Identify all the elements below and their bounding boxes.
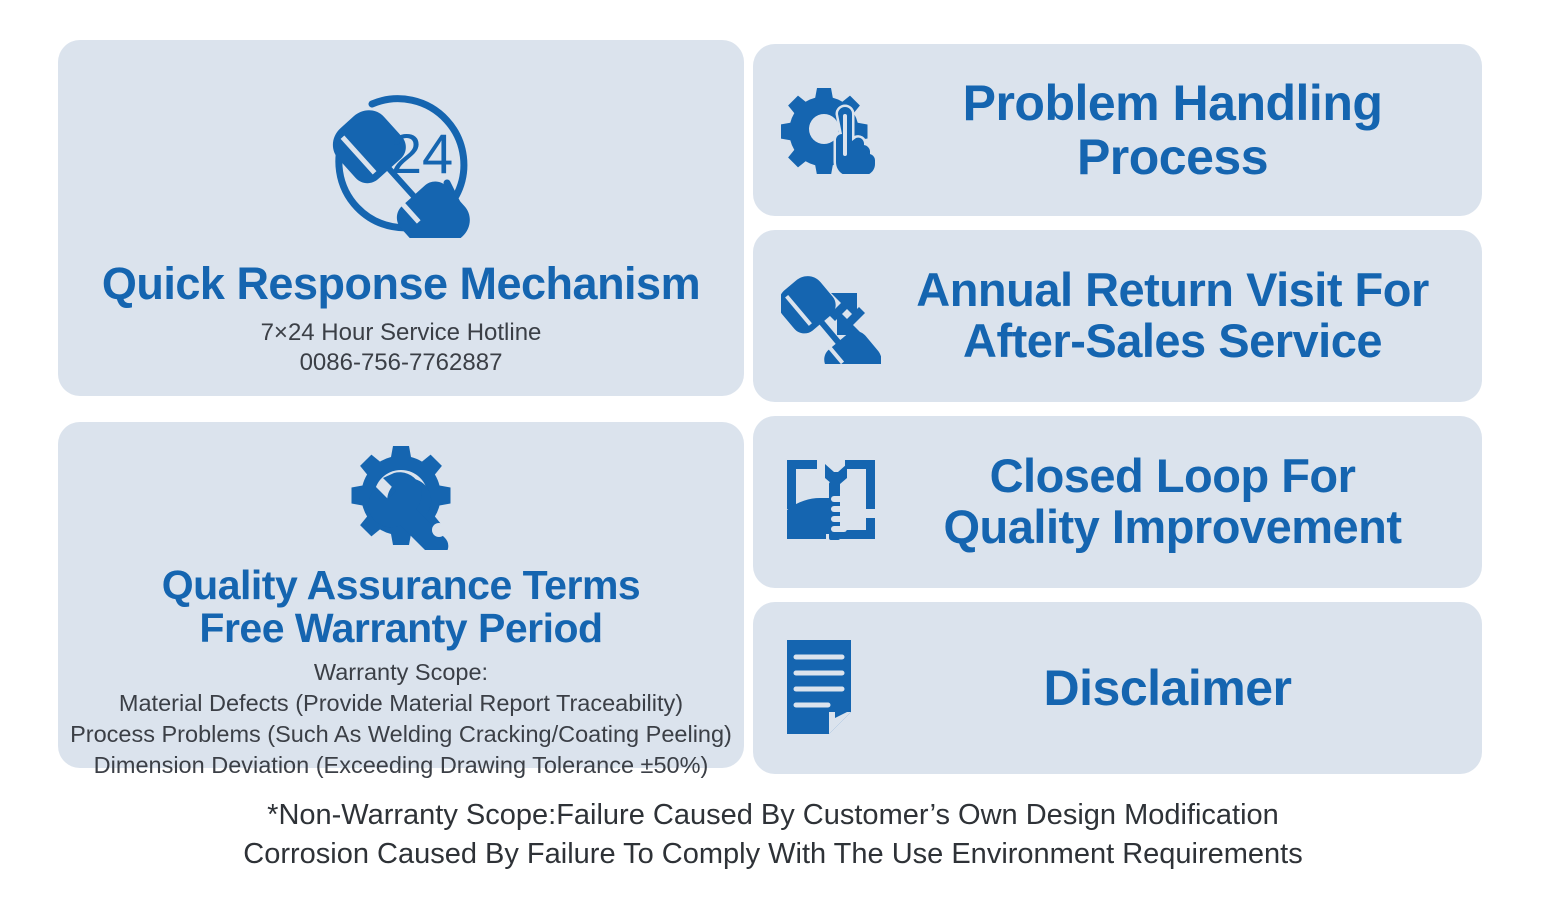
card-title-quick-response: Quick Response Mechanism <box>102 260 700 308</box>
infographic-page: 24 Quick Response Mechanism 7×24 Hour Se… <box>0 0 1546 924</box>
warranty-scope-block: Warranty Scope: Material Defects (Provid… <box>70 657 732 781</box>
closed-loop-title-line1: Closed Loop For <box>881 451 1464 502</box>
gear-hand-click-icon <box>781 86 881 174</box>
svg-text:24: 24 <box>391 122 453 185</box>
footer-line-2: Corrosion Caused By Failure To Comply Wi… <box>0 835 1546 874</box>
document-lines-icon <box>781 636 871 740</box>
non-warranty-footer-note: *Non-Warranty Scope:Failure Caused By Cu… <box>0 796 1546 875</box>
card-quick-response-mechanism: 24 Quick Response Mechanism 7×24 Hour Se… <box>58 40 744 396</box>
service-hotline-label: 7×24 Hour Service Hotline <box>261 318 542 348</box>
warranty-scope-item: Dimension Deviation (Exceeding Drawing T… <box>70 750 732 781</box>
footer-line-1: *Non-Warranty Scope:Failure Caused By Cu… <box>0 796 1546 835</box>
quick-response-subtext: 7×24 Hour Service Hotline 0086-756-77628… <box>261 318 542 378</box>
card-problem-handling-process: Problem Handling Process <box>753 44 1482 216</box>
warranty-scope-label: Warranty Scope: <box>70 657 732 688</box>
warranty-scope-item: Material Defects (Provide Material Repor… <box>70 688 732 719</box>
card-title-annual-return: Annual Return Visit For After-Sales Serv… <box>881 265 1482 367</box>
quality-assurance-title-line1: Quality Assurance Terms <box>162 564 640 607</box>
service-hotline-number: 0086-756-7762887 <box>261 348 542 378</box>
gear-wrench-icon <box>338 444 464 550</box>
phone-24-support-icon: 24 <box>316 88 486 238</box>
quality-assurance-title-line2: Free Warranty Period <box>162 607 640 650</box>
annual-return-title-line1: Annual Return Visit For <box>881 265 1464 316</box>
annual-return-title-line2: After-Sales Service <box>881 316 1464 367</box>
closed-loop-title-line2: Quality Improvement <box>881 502 1464 553</box>
phone-exchange-arrows-icon <box>781 269 881 364</box>
card-quality-assurance-terms: Quality Assurance Terms Free Warranty Pe… <box>58 422 744 768</box>
card-title-quality-assurance: Quality Assurance Terms Free Warranty Pe… <box>162 564 640 651</box>
card-disclaimer: Disclaimer <box>753 602 1482 774</box>
card-title-disclaimer: Disclaimer <box>871 661 1482 715</box>
card-closed-loop-quality-improvement: Closed Loop For Quality Improvement <box>753 416 1482 588</box>
card-title-problem-handling: Problem Handling Process <box>881 76 1482 184</box>
warranty-scope-item: Process Problems (Such As Welding Cracki… <box>70 719 732 750</box>
hand-wrench-screen-icon <box>781 452 881 552</box>
card-annual-return-visit: Annual Return Visit For After-Sales Serv… <box>753 230 1482 402</box>
card-title-closed-loop: Closed Loop For Quality Improvement <box>881 451 1482 553</box>
